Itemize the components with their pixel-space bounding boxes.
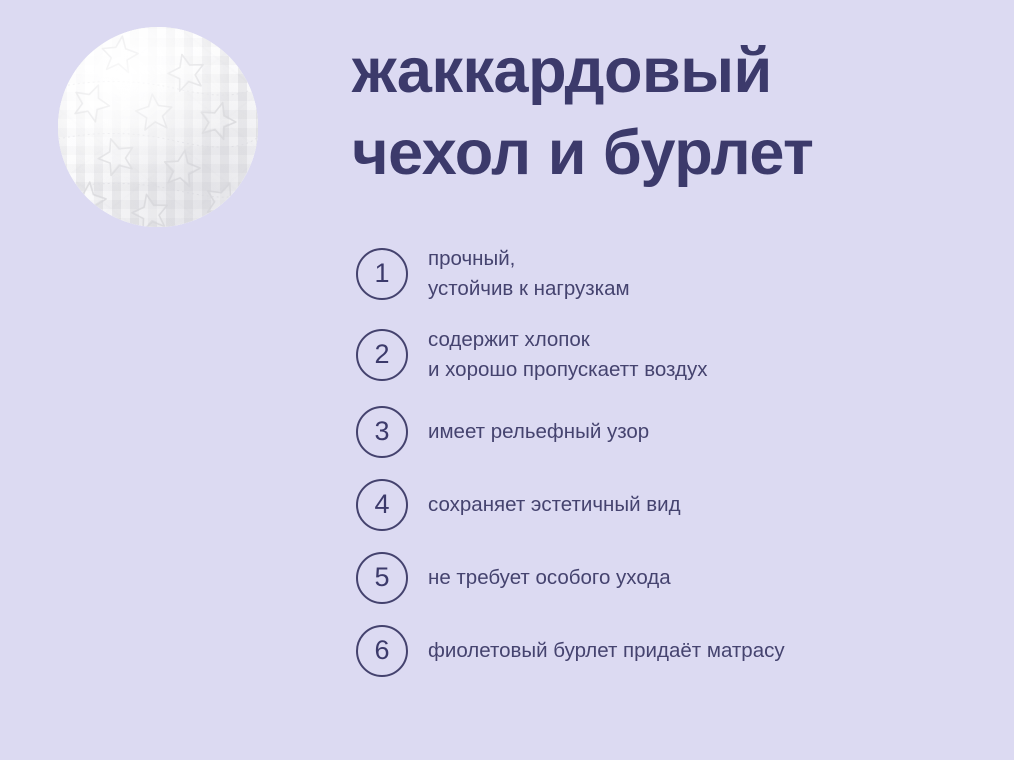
- feature-number-badge: 1: [356, 248, 408, 300]
- list-item: 6 фиолетовый бурлет придаёт матрасу: [356, 625, 976, 677]
- feature-label: прочный, устойчив к нагрузкам: [428, 244, 630, 304]
- feature-number-badge: 6: [356, 625, 408, 677]
- page-title: жаккардовый чехол и бурлет: [352, 30, 1000, 194]
- list-item: 4 сохраняет эстетичный вид: [356, 479, 976, 531]
- feature-label: не требует особого ухода: [428, 563, 671, 593]
- feature-number-badge: 2: [356, 329, 408, 381]
- fabric-photo-circle: [58, 27, 258, 227]
- list-item: 3 имеет рельефный узор: [356, 406, 976, 458]
- feature-label: сохраняет эстетичный вид: [428, 490, 681, 520]
- feature-label: фиолетовый бурлет придаёт матрасу: [428, 636, 785, 666]
- list-item: 5 не требует особого ухода: [356, 552, 976, 604]
- feature-list: 1 прочный, устойчив к нагрузкам 2 содерж…: [356, 244, 976, 677]
- fabric-shading-overlay: [58, 27, 258, 227]
- feature-label: содержит хлопок и хорошо пропускаетт воз…: [428, 325, 707, 385]
- list-item: 1 прочный, устойчив к нагрузкам: [356, 244, 976, 304]
- feature-number-badge: 4: [356, 479, 408, 531]
- list-item: 2 содержит хлопок и хорошо пропускаетт в…: [356, 325, 976, 385]
- feature-number-badge: 3: [356, 406, 408, 458]
- slide-root: жаккардовый чехол и бурлет 1 прочный, ус…: [0, 0, 1014, 760]
- feature-label: имеет рельефный узор: [428, 417, 649, 447]
- feature-number-badge: 5: [356, 552, 408, 604]
